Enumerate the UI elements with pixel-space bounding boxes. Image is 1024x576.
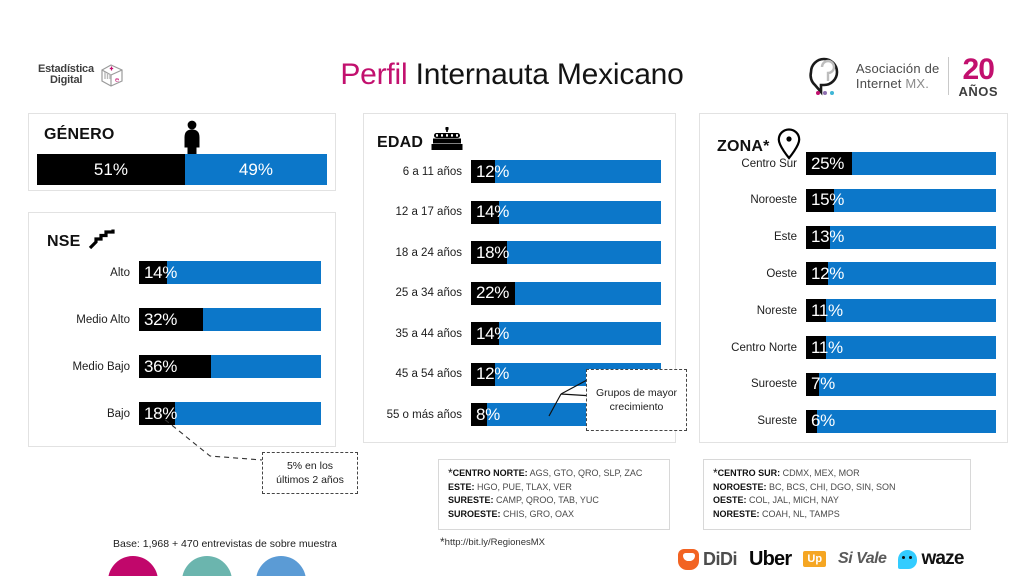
asociacion-line2: Internet — [856, 76, 902, 91]
didi-logo-text: DiDi — [703, 549, 737, 570]
note-line-key: NORESTE: — [713, 509, 760, 519]
bar-track: 7% — [806, 373, 996, 396]
bar-track: 11% — [806, 336, 996, 359]
note-line: NORESTE: COAH, NL, TAMPS — [713, 508, 961, 522]
bar-value-label: 12% — [476, 162, 509, 182]
anniversary-word: AÑOS — [958, 85, 998, 98]
bar-row: Noreste11% — [700, 299, 1000, 322]
note-line: SURESTE: CAMP, QROO, TAB, YUC — [448, 494, 660, 508]
bar-value-label: 8% — [476, 405, 500, 425]
note-line-key: NOROESTE: — [713, 482, 767, 492]
bar-row-label: Centro Norte — [700, 342, 806, 354]
bar-track: 14% — [471, 322, 661, 345]
asociacion-internet-logo: Asociación de Internet MX. 20 AÑOS — [805, 48, 998, 104]
uber-logo-text: Uber — [749, 548, 791, 571]
bar-row: Centro Norte11% — [700, 336, 1000, 359]
asociacion-internet-mark-icon — [805, 54, 847, 98]
bar-track: 12% — [471, 160, 661, 183]
bar-row: Sureste6% — [700, 410, 1000, 433]
panel-nse-title-text: NSE — [47, 233, 81, 251]
anniversary-badge: 20 AÑOS — [958, 55, 998, 98]
bar-row: 35 a 44 años14% — [364, 322, 669, 345]
bar-row: 25 a 34 años22% — [364, 282, 669, 305]
genero-value-1: 51% — [94, 160, 128, 180]
genero-segment-blue: 49% — [185, 154, 327, 185]
note-line-key: ESTE: — [448, 482, 475, 492]
note-line: ESTE: HGO, PUE, TLAX, VER — [448, 481, 660, 495]
waze-face-icon — [898, 550, 917, 569]
up-logo-text: Up — [803, 551, 826, 567]
bar-value-label: 12% — [476, 364, 509, 384]
bar-value-label: 18% — [144, 404, 177, 424]
didi-mark-icon — [678, 549, 699, 570]
genero-value-2: 49% — [239, 160, 273, 180]
bar-row: Bajo18% — [29, 402, 329, 425]
bar-track: 13% — [806, 226, 996, 249]
bar-row-label: Medio Bajo — [29, 361, 139, 373]
bar-row-label: 25 a 34 años — [364, 287, 471, 299]
bar-row-label: 18 a 24 años — [364, 247, 471, 259]
callout-nse-text: 5% en los últimos 2 años — [269, 459, 351, 487]
bar-row-label: 55 o más años — [364, 409, 471, 421]
edad-regions-note: *CENTRO NORTE: AGS, GTO, QRO, SLP, ZACES… — [438, 459, 670, 530]
note-line-key: SUROESTE: — [448, 509, 501, 519]
note-line: NOROESTE: BC, BCS, CHI, DGO, SIN, SON — [713, 481, 961, 495]
genero-bar: 51% 49% — [37, 154, 327, 185]
callout-edad: Grupos de mayor crecimiento — [586, 369, 687, 431]
footer-circles — [108, 556, 306, 576]
bar-value-label: 25% — [811, 154, 844, 174]
bar-row-label: Suroeste — [700, 378, 806, 390]
bar-value-label: 7% — [811, 374, 835, 394]
bar-row: Medio Alto32% — [29, 308, 329, 331]
bar-value-label: 11% — [811, 301, 843, 321]
asociacion-internet-text: Asociación de Internet MX. — [856, 61, 940, 91]
note-line: *CENTRO SUR: CDMX, MEX, MOR — [713, 467, 961, 481]
bar-row: Noroeste15% — [700, 189, 1000, 212]
zona-note-wrap: *CENTRO SUR: CDMX, MEX, MORNOROESTE: BC,… — [703, 459, 971, 530]
bar-track: 11% — [806, 299, 996, 322]
note-line-value: HGO, PUE, TLAX, VER — [475, 482, 572, 492]
note-line-key: CENTRO NORTE: — [453, 468, 528, 478]
bar-row-label: Oeste — [700, 268, 806, 280]
bar-row-label: 12 a 17 años — [364, 206, 471, 218]
bar-track: 25% — [806, 152, 996, 175]
panel-nse: NSE Alto14%Medio Alto32%Medio Bajo36%Baj… — [28, 212, 336, 447]
edad-note-wrap: *CENTRO NORTE: AGS, GTO, QRO, SLP, ZACES… — [438, 459, 670, 549]
panel-edad-title-text: EDAD — [377, 134, 423, 152]
bar-track: 6% — [806, 410, 996, 433]
source-url: *http://bit.ly/RegionesMX — [438, 535, 670, 549]
note-line: OESTE: COL, JAL, MICH, NAY — [713, 494, 961, 508]
bar-value-label: 14% — [476, 202, 509, 222]
bar-track: 18% — [471, 241, 661, 264]
bar-row-label: 35 a 44 años — [364, 328, 471, 340]
bar-value-label: 6% — [811, 411, 835, 431]
bar-value-label: 13% — [811, 227, 844, 247]
didi-logo: DiDi — [678, 549, 737, 570]
bar-value-label: 14% — [144, 263, 177, 283]
callout-edad-text: Grupos de mayor crecimiento — [593, 386, 680, 414]
bar-row: Centro Sur25% — [700, 152, 1000, 175]
source-url-text: http://bit.ly/RegionesMX — [445, 537, 545, 548]
anniversary-number: 20 — [958, 55, 998, 85]
sivale-logo-text: Si Vale — [838, 550, 886, 568]
bar-track: 22% — [471, 282, 661, 305]
circle-magenta — [108, 556, 158, 576]
bar-row: 12 a 17 años14% — [364, 201, 669, 224]
bar-row-label: Bajo — [29, 408, 139, 420]
bar-row: Alto14% — [29, 261, 329, 284]
note-line-value: BC, BCS, CHI, DGO, SIN, SON — [767, 482, 896, 492]
bar-value-label: 11% — [811, 338, 843, 358]
note-line: *CENTRO NORTE: AGS, GTO, QRO, SLP, ZAC — [448, 467, 660, 481]
asociacion-line1: Asociación de — [856, 61, 940, 76]
note-line-key: SURESTE: — [448, 495, 494, 505]
page-title-rest: Internauta Mexicano — [407, 58, 683, 91]
bar-row-label: 6 a 11 años — [364, 166, 471, 178]
base-text-value: Base: 1,968 + 470 entrevistas de sobre m… — [113, 538, 337, 550]
bar-row-label: Noreste — [700, 305, 806, 317]
bar-track: 18% — [139, 402, 321, 425]
asociacion-line2-suffix: MX. — [905, 76, 929, 91]
callout-nse: 5% en los últimos 2 años — [262, 452, 358, 494]
circle-blue — [256, 556, 306, 576]
bar-track: 32% — [139, 308, 321, 331]
bar-value-label: 32% — [144, 310, 177, 330]
bar-row: Este13% — [700, 226, 1000, 249]
sponsor-logos: DiDi Uber Up Si Vale waze — [678, 544, 964, 574]
page-title-highlight: Perfil — [340, 58, 407, 91]
note-line-value: CAMP, QROO, TAB, YUC — [494, 495, 599, 505]
bar-track: 14% — [471, 201, 661, 224]
note-line-value: AGS, GTO, QRO, SLP, ZAC — [528, 468, 643, 478]
bar-track: 14% — [139, 261, 321, 284]
bar-value-label: 14% — [476, 324, 509, 344]
panel-genero: GÉNERO 51% 49% — [28, 113, 336, 191]
bar-value-label: 36% — [144, 357, 177, 377]
waze-logo-text: waze — [921, 548, 963, 570]
bar-row-label: Medio Alto — [29, 314, 139, 326]
panel-zona: ZONA* Centro Sur25%Noroeste15%Este13%Oes… — [699, 113, 1008, 443]
bar-track: 12% — [806, 262, 996, 285]
zona-regions-note: *CENTRO SUR: CDMX, MEX, MORNOROESTE: BC,… — [703, 459, 971, 530]
stairs-icon — [88, 229, 116, 254]
bar-row-label: Noroeste — [700, 194, 806, 206]
bar-value-label: 22% — [476, 283, 509, 303]
note-line-value: CDMX, MEX, MOR — [780, 468, 860, 478]
asociacion-dots-icon — [816, 91, 834, 95]
base-text: Base: 1,968 + 470 entrevistas de sobre m… — [113, 538, 337, 550]
bar-row: 6 a 11 años12% — [364, 160, 669, 183]
infographic-slide: Estadística Digital e Perfil Internauta … — [0, 0, 1024, 576]
bar-track: 36% — [139, 355, 321, 378]
bar-track: 15% — [806, 189, 996, 212]
birthday-cake-icon — [430, 127, 464, 158]
note-line-key: OESTE: — [713, 495, 747, 505]
note-line-key: CENTRO SUR: — [718, 468, 781, 478]
bar-row: 18 a 24 años18% — [364, 241, 669, 264]
bar-row: Oeste12% — [700, 262, 1000, 285]
logo-divider — [948, 57, 949, 95]
bar-row-label: Sureste — [700, 415, 806, 427]
note-line-value: CHIS, GRO, OAX — [501, 509, 575, 519]
note-line: SUROESTE: CHIS, GRO, OAX — [448, 508, 660, 522]
panel-edad-title: EDAD — [377, 127, 464, 158]
bar-row-label: 45 a 54 años — [364, 368, 471, 380]
panel-genero-title-text: GÉNERO — [44, 126, 115, 144]
bar-value-label: 12% — [811, 264, 844, 284]
waze-logo: waze — [898, 548, 963, 570]
note-line-value: COAH, NL, TAMPS — [760, 509, 840, 519]
bar-row: Suroeste7% — [700, 373, 1000, 396]
circle-teal — [182, 556, 232, 576]
bar-row-label: Centro Sur — [700, 158, 806, 170]
bar-row: Medio Bajo36% — [29, 355, 329, 378]
bar-value-label: 15% — [811, 190, 844, 210]
bar-row-label: Alto — [29, 267, 139, 279]
genero-segment-black: 51% — [37, 154, 185, 185]
bar-row-label: Este — [700, 231, 806, 243]
bar-value-label: 18% — [476, 243, 509, 263]
panel-genero-title: GÉNERO — [44, 126, 115, 144]
note-line-value: COL, JAL, MICH, NAY — [747, 495, 839, 505]
panel-nse-title: NSE — [47, 229, 116, 254]
